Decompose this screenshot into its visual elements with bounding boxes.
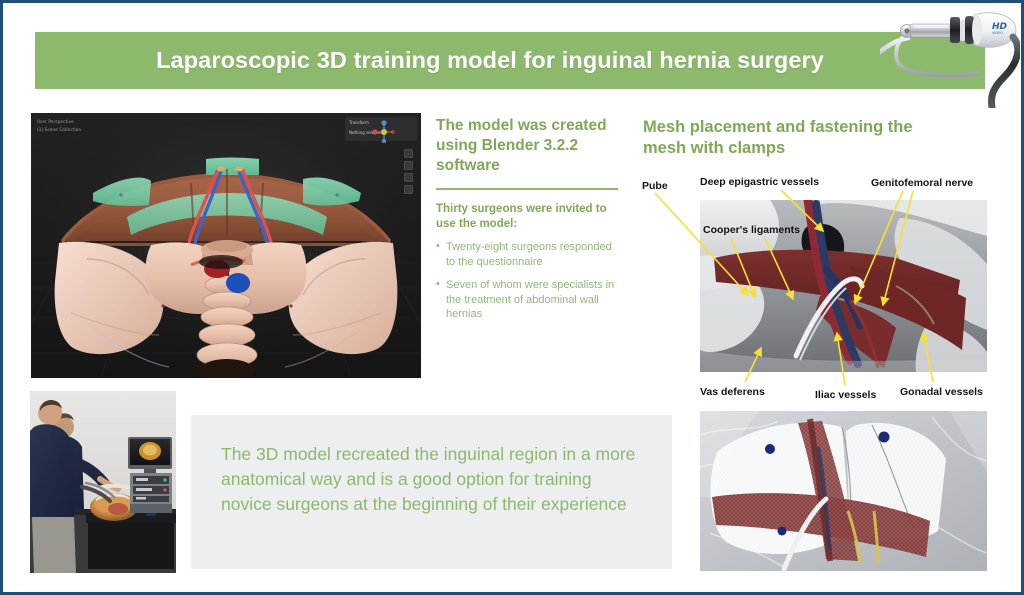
mesh-fastened-with-clamps-photo bbox=[700, 411, 987, 571]
invite-line: Thirty surgeons were invited to use the … bbox=[436, 202, 618, 232]
blender-tool-button[interactable] bbox=[404, 185, 413, 194]
lead-statement: The model was created using Blender 3.2.… bbox=[436, 116, 618, 175]
clamp-marker bbox=[879, 432, 890, 443]
blender-tool-button[interactable] bbox=[404, 173, 413, 182]
list-item: Seven of whom were specialists in the tr… bbox=[436, 278, 618, 321]
blender-perspective-label: User Perspective bbox=[37, 119, 74, 124]
blender-axis-gizmo-icon[interactable] bbox=[371, 119, 397, 145]
conclusion-box: The 3D model recreated the inguinal regi… bbox=[191, 415, 672, 569]
list-item: Twenty-eight surgeons responded to the q… bbox=[436, 240, 618, 269]
surgeons-training-photo bbox=[30, 391, 176, 573]
methods-text-column: The model was created using Blender 3.2.… bbox=[436, 116, 618, 330]
blender-panel-header: Transform bbox=[349, 120, 369, 125]
pelvis-3d-model bbox=[31, 113, 421, 378]
laparoscope-camera-icon: HD VIDEO bbox=[880, 3, 1020, 108]
label-pube: Pube bbox=[642, 180, 668, 192]
blender-tool-button[interactable] bbox=[404, 161, 413, 170]
header-bar: Laparoscopic 3D training model for ingui… bbox=[35, 32, 985, 89]
label-coopers-ligaments: Cooper's ligaments bbox=[703, 224, 800, 236]
conclusion-text: The 3D model recreated the inguinal regi… bbox=[221, 442, 645, 517]
blender-viewport-screenshot: User Perspective (1) Scene Collection Tr… bbox=[31, 113, 421, 378]
label-vas-deferens: Vas deferens bbox=[700, 386, 765, 398]
label-genitofemoral-nerve: Genitofemoral nerve bbox=[871, 177, 973, 189]
label-deep-epigastric-vessels: Deep epigastric vessels bbox=[700, 176, 819, 188]
clamp-marker bbox=[765, 444, 775, 454]
blender-viewport-tool-strip[interactable] bbox=[404, 149, 413, 197]
label-gonadal-vessels: Gonadal vessels bbox=[900, 386, 983, 398]
page-title: Laparoscopic 3D training model for ingui… bbox=[35, 32, 985, 89]
blender-tool-button[interactable] bbox=[404, 149, 413, 158]
label-iliac-vessels: Iliac vessels bbox=[815, 389, 876, 401]
mesh-section-heading: Mesh placement and fastening the mesh wi… bbox=[643, 117, 953, 159]
blender-scene-label: (1) Scene Collection bbox=[37, 127, 81, 132]
hd-badge-sublabel: VIDEO bbox=[992, 31, 1003, 35]
survey-bullet-list: Twenty-eight surgeons responded to the q… bbox=[436, 240, 618, 321]
clamp-marker bbox=[778, 527, 787, 536]
poster-canvas: Laparoscopic 3D training model for ingui… bbox=[0, 0, 1024, 595]
green-divider bbox=[436, 188, 618, 190]
